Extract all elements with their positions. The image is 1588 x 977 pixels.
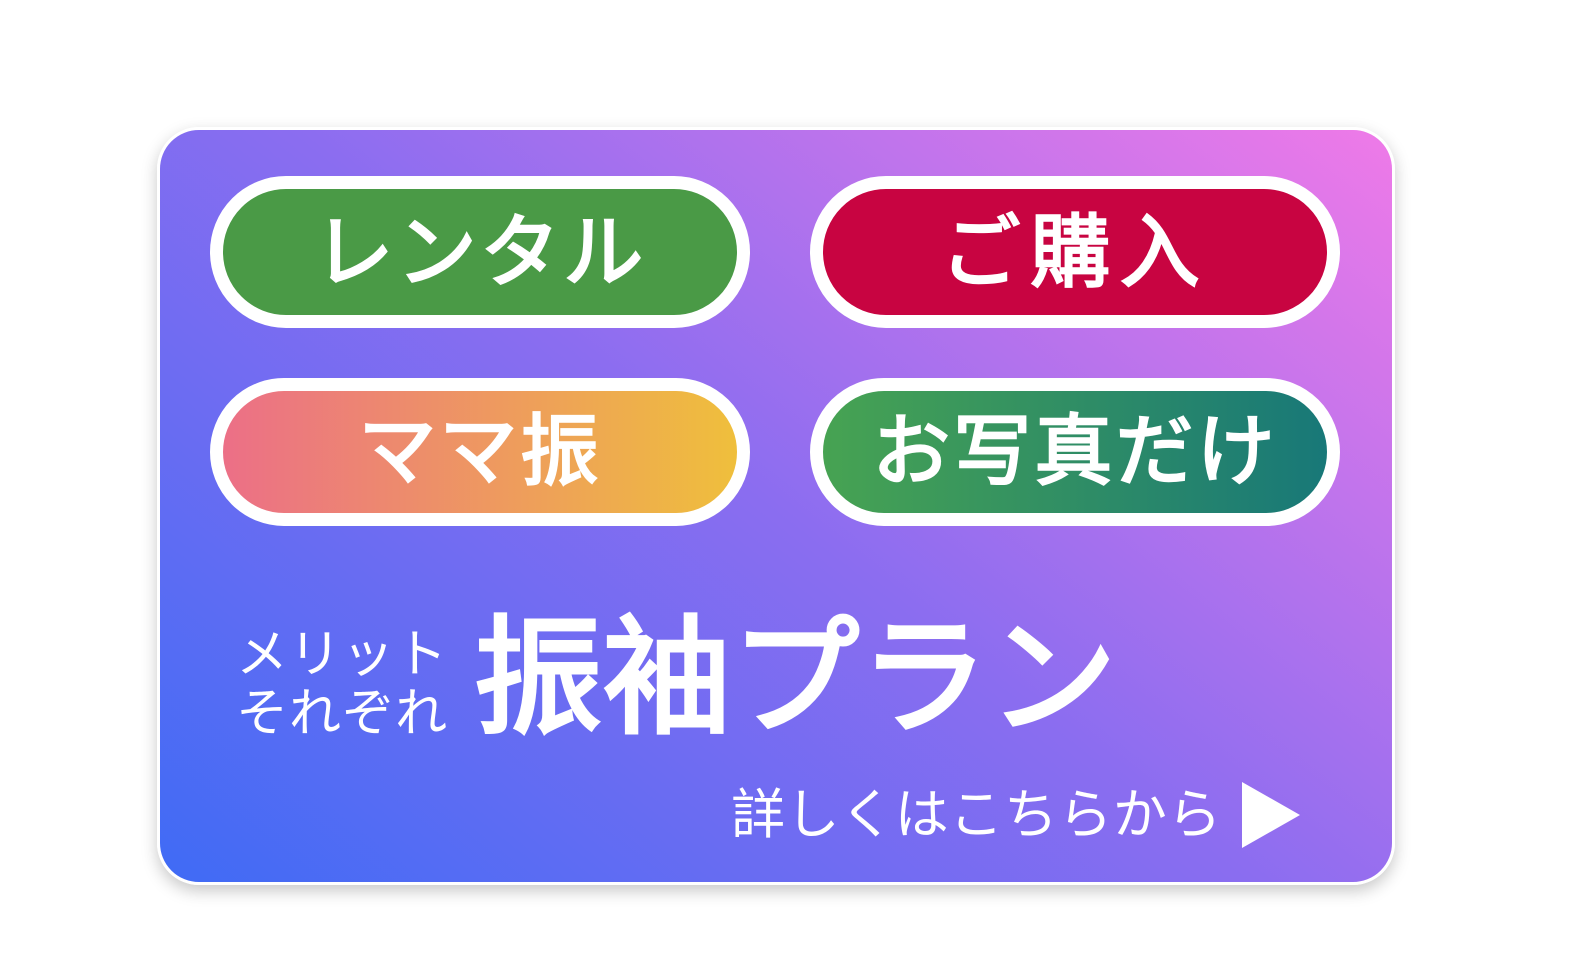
banner-heading: メリット それぞれ 振袖プラン	[218, 585, 1348, 770]
plan-button-purchase[interactable]: ご購入	[810, 176, 1340, 328]
page-title: 振袖プラン	[474, 614, 1117, 742]
furisode-plan-banner[interactable]: レンタル ご購入 ママ振 お写真だけ メリット それぞれ 振袖プラン 詳しくはこ…	[157, 127, 1395, 885]
heading-kicker: メリット それぞれ	[218, 612, 448, 742]
cta-label: 詳しくはこちらから	[731, 788, 1222, 842]
play-triangle-right-icon	[1242, 782, 1300, 848]
heading-kicker-line-1: メリット	[236, 626, 448, 684]
cta-link[interactable]: 詳しくはこちらから	[731, 782, 1300, 848]
heading-kicker-line-2: それぞれ	[236, 685, 448, 743]
plan-button-mamafuri[interactable]: ママ振	[210, 378, 750, 526]
plan-button-photo-only[interactable]: お写真だけ	[810, 378, 1340, 526]
plan-button-rental[interactable]: レンタル	[210, 176, 750, 328]
